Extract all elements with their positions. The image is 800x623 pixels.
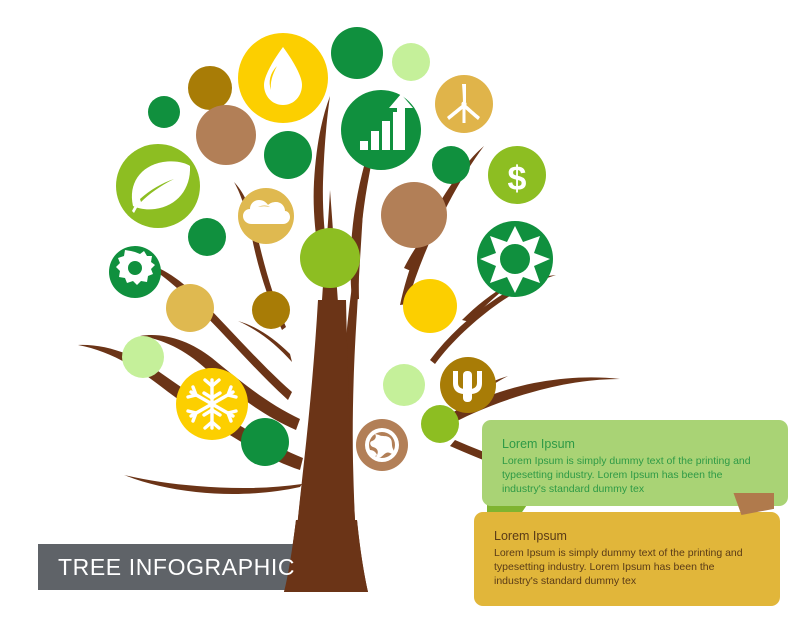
cactus-icon[interactable] <box>440 357 496 413</box>
gear-icon[interactable] <box>109 246 161 298</box>
title-band-shape <box>38 544 320 590</box>
globe-icon[interactable] <box>356 419 408 471</box>
dot-green-top <box>331 27 383 79</box>
callout-orange[interactable]: Lorem Ipsum Lorem Ipsum is simply dummy … <box>474 512 780 606</box>
callout-orange-heading: Lorem Ipsum <box>494 528 760 544</box>
infographic-canvas: $ <box>0 0 800 623</box>
callout-green-heading: Lorem Ipsum <box>502 436 768 452</box>
svg-text:$: $ <box>508 160 527 198</box>
dot-gold-upper-left <box>188 66 232 110</box>
dot-mint-right-low <box>383 364 425 406</box>
dot-green-right-small <box>432 146 470 184</box>
dot-lime-right-bottom <box>421 405 459 443</box>
snowflake-icon[interactable] <box>176 368 248 440</box>
dot-green-mid <box>264 131 312 179</box>
dot-tan-mid-right <box>381 182 447 248</box>
dot-lime-center <box>300 228 360 288</box>
dollar-icon[interactable]: $ <box>488 146 546 204</box>
dot-tan-upper <box>196 105 256 165</box>
growth-chart-icon[interactable] <box>341 90 421 170</box>
dot-mint-left-low <box>122 336 164 378</box>
dot-yellow-right <box>403 279 457 333</box>
dot-olive-center-low <box>252 291 290 329</box>
dot-gold-left-low <box>166 284 214 332</box>
cloud-icon[interactable] <box>238 188 294 244</box>
dot-green-left-mid <box>188 218 226 256</box>
sun-icon[interactable] <box>477 221 553 297</box>
leaf-icon[interactable] <box>116 144 200 228</box>
dot-mint-top <box>392 43 430 81</box>
dot-green-left-bottom <box>241 418 289 466</box>
water-drop-icon[interactable] <box>238 33 328 123</box>
wind-turbine-icon[interactable] <box>435 75 493 133</box>
callout-green-body: Lorem Ipsum is simply dummy text of the … <box>502 454 768 497</box>
dot-green-small-left <box>148 96 180 128</box>
trunk-front-overlap <box>284 520 368 592</box>
callout-orange-body: Lorem Ipsum is simply dummy text of the … <box>494 546 760 589</box>
